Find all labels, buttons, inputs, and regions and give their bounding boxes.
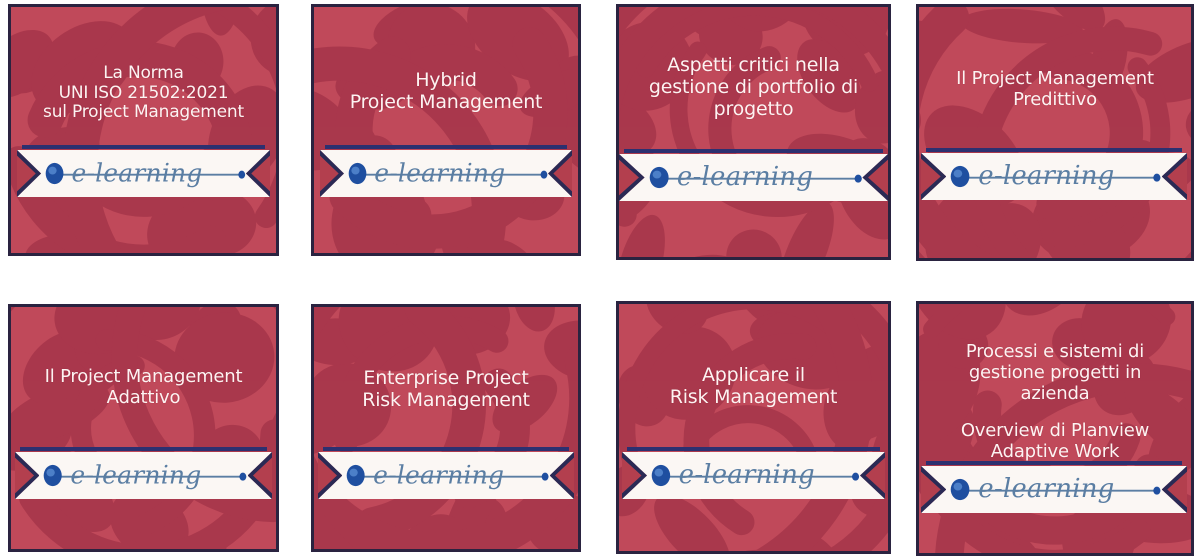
elearning-label: e-learning	[978, 473, 1114, 503]
elearning-ribbon: e-learning	[15, 447, 272, 499]
card-background-pattern	[314, 7, 578, 253]
ribbon-content: e-learning	[45, 150, 250, 197]
ribbon-top-bar	[926, 148, 1181, 152]
card-title: Il Project Management Predittivo	[956, 69, 1154, 111]
ribbon-top-bar	[20, 447, 267, 451]
elearning-label: e-learning	[70, 460, 201, 489]
elearning-logo: e-learning	[43, 452, 251, 499]
ribbon-top-bar	[926, 461, 1181, 465]
card-background-pattern	[919, 304, 1191, 553]
card-project-management-predittivo[interactable]: Il Project Management Predittivoe-learni…	[916, 4, 1194, 261]
card-background-pattern	[11, 307, 276, 549]
ribbon-top-bar	[624, 149, 882, 153]
card-title-block: Processi e sistemi di gestione progetti …	[919, 304, 1191, 553]
ribbon-content: e-learning	[950, 466, 1165, 513]
ribbon-content: e-learning	[43, 452, 251, 499]
card-processi-sistemi-planview[interactable]: Processi e sistemi di gestione progetti …	[916, 301, 1194, 556]
ribbon-content: e-learning	[950, 153, 1165, 200]
elearning-logo: e-learning	[45, 150, 250, 197]
card-project-management-adattivo[interactable]: Il Project Management Adattivoe-learning	[8, 304, 279, 552]
card-title: Enterprise Project Risk Management	[362, 367, 530, 411]
card-title-block: La Norma UNI ISO 21502:2021 sul Project …	[11, 7, 276, 253]
card-title-block: Enterprise Project Risk Management	[314, 307, 578, 549]
card-hybrid-project-management[interactable]: Hybrid Project Managemente-learning	[311, 4, 581, 256]
elearning-ribbon: e-learning	[619, 149, 888, 201]
ribbon-content: e-learning	[651, 452, 864, 499]
card-title-block: Il Project Management Adattivo	[11, 307, 276, 549]
course-card-grid: La Norma UNI ISO 21502:2021 sul Project …	[0, 0, 1200, 557]
card-background-pattern	[919, 7, 1191, 258]
elearning-ribbon: e-learning	[921, 148, 1187, 200]
ribbon-top-bar	[325, 145, 567, 149]
elearning-logo: e-learning	[950, 466, 1165, 513]
elearning-label: e-learning	[679, 459, 815, 489]
card-background-pattern	[11, 7, 276, 253]
elearning-logo: e-learning	[950, 153, 1165, 200]
elearning-logo: e-learning	[651, 452, 864, 499]
ribbon-top-bar	[627, 447, 880, 451]
card-background-pattern	[619, 304, 888, 551]
elearning-label: e-learning	[71, 158, 202, 187]
ribbon-content: e-learning	[348, 150, 552, 197]
ribbon-top-bar	[22, 145, 265, 149]
card-title-block: Hybrid Project Management	[314, 7, 578, 253]
card-title: Applicare il Risk Management	[670, 364, 838, 408]
elearning-label: e-learning	[374, 158, 505, 187]
card-title-block: Aspetti critici nella gestione di portfo…	[619, 7, 888, 257]
ribbon-top-bar	[323, 447, 569, 451]
card-background-pattern	[314, 307, 578, 549]
card-applicare-risk-management[interactable]: Applicare il Risk Managemente-learning	[616, 301, 891, 554]
elearning-ribbon: e-learning	[17, 145, 270, 197]
elearning-logo: e-learning	[649, 154, 867, 201]
card-title: Il Project Management Adattivo	[45, 367, 243, 409]
elearning-ribbon: e-learning	[318, 447, 574, 499]
elearning-label: e-learning	[373, 460, 504, 489]
ribbon-content: e-learning	[649, 154, 867, 201]
card-title: Hybrid Project Management	[350, 69, 543, 113]
card-aspetti-critici-portfolio[interactable]: Aspetti critici nella gestione di portfo…	[616, 4, 891, 260]
ribbon-content: e-learning	[346, 452, 553, 499]
card-background-pattern	[619, 7, 888, 257]
card-title: Aspetti critici nella gestione di portfo…	[649, 54, 858, 120]
card-title: La Norma UNI ISO 21502:2021 sul Project …	[43, 64, 244, 123]
elearning-logo: e-learning	[346, 452, 553, 499]
card-title: Processi e sistemi di gestione progetti …	[966, 342, 1144, 405]
card-norma-uni-iso-21502[interactable]: La Norma UNI ISO 21502:2021 sul Project …	[8, 4, 279, 256]
elearning-ribbon: e-learning	[622, 447, 885, 499]
card-title-block: Il Project Management Predittivo	[919, 7, 1191, 258]
elearning-label: e-learning	[978, 160, 1114, 190]
card-subtitle: Overview di Planview Adaptive Work	[961, 421, 1149, 463]
card-title-block: Applicare il Risk Management	[619, 304, 888, 551]
card-enterprise-project-risk-management[interactable]: Enterprise Project Risk Managemente-lear…	[311, 304, 581, 552]
elearning-label: e-learning	[677, 161, 813, 191]
elearning-ribbon: e-learning	[320, 145, 572, 197]
elearning-logo: e-learning	[348, 150, 552, 197]
elearning-ribbon: e-learning	[921, 461, 1187, 513]
